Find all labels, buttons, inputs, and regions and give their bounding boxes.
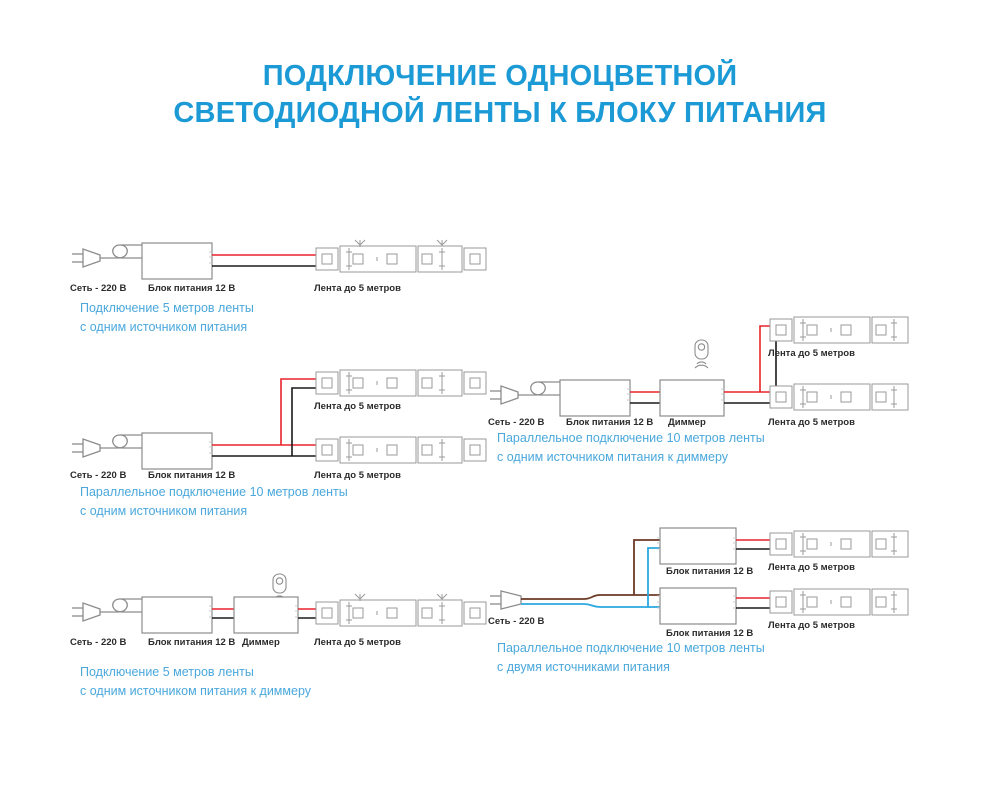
label-strip: Лента до 5 метров bbox=[314, 637, 401, 648]
caption-parallel-two-strips-one-psu-dimmer: Параллельное подключение 10 метров ленты… bbox=[497, 429, 765, 468]
power-supply-block-icon bbox=[142, 243, 212, 279]
label-dimmer: Диммер bbox=[242, 637, 280, 648]
power-supply-block-icon bbox=[142, 433, 212, 469]
caption-single-strip-one-psu-dimmer: Подключение 5 метров ленты с одним источ… bbox=[80, 663, 311, 702]
wire-live-brown bbox=[521, 540, 660, 599]
power-supply-block-icon bbox=[142, 597, 212, 633]
caption-line-1: Параллельное подключение 10 метров ленты bbox=[80, 483, 348, 502]
diagram-single-strip-one-psu: Сеть - 220 В Блок питания 12 В Лента до … bbox=[70, 235, 490, 295]
caption-line-1: Подключение 5 метров ленты bbox=[80, 663, 311, 682]
label-psu: Блок питания 12 В bbox=[148, 283, 235, 294]
diagram-parallel-two-strips-two-psu: Блок питания 12 В Лента до 5 метров Сеть… bbox=[488, 518, 920, 630]
power-supply-block-icon bbox=[560, 380, 630, 416]
caption-line-1: Параллельное подключение 10 метров ленты bbox=[497, 639, 765, 658]
label-strip: Лента до 5 метров bbox=[768, 417, 855, 428]
dimmer-block-icon bbox=[234, 597, 298, 633]
caption-parallel-two-strips-one-psu: Параллельное подключение 10 метров ленты… bbox=[80, 483, 348, 522]
led-strip-icon bbox=[770, 531, 908, 557]
power-plug-icon bbox=[72, 599, 142, 621]
label-psu: Блок питания 12 В bbox=[666, 628, 753, 639]
led-strip-icon bbox=[316, 594, 486, 626]
label-psu: Блок питания 12 В bbox=[148, 470, 235, 481]
power-plug-icon bbox=[490, 591, 521, 609]
power-supply-block-icon bbox=[660, 528, 736, 564]
caption-line-2: с одним источником питания к диммеру bbox=[497, 448, 765, 467]
label-mains: Сеть - 220 В bbox=[488, 417, 544, 428]
led-strip-icon bbox=[316, 240, 486, 272]
caption-line-1: Подключение 5 метров ленты bbox=[80, 299, 254, 318]
caption-single-strip-one-psu: Подключение 5 метров ленты с одним источ… bbox=[80, 299, 254, 338]
page-title: ПОДКЛЮЧЕНИЕ ОДНОЦВЕТНОЙ СВЕТОДИОДНОЙ ЛЕН… bbox=[0, 58, 1000, 132]
diagram-parallel-two-strips-one-psu-dimmer: Лента до 5 метров Сеть - 220 В Блок пита… bbox=[488, 312, 920, 417]
label-strip: Лента до 5 метров bbox=[768, 348, 855, 359]
power-plug-icon bbox=[72, 435, 142, 457]
dimmer-block-icon bbox=[660, 380, 724, 416]
power-supply-block-icon bbox=[660, 588, 736, 624]
led-strip-icon bbox=[770, 317, 908, 343]
label-mains: Сеть - 220 В bbox=[70, 637, 126, 648]
label-psu: Блок питания 12 В bbox=[566, 417, 653, 428]
label-mains: Сеть - 220 В bbox=[488, 616, 544, 627]
label-psu: Блок питания 12 В bbox=[666, 566, 753, 577]
label-strip: Лента до 5 метров bbox=[314, 283, 401, 294]
label-strip: Лента до 5 метров bbox=[768, 562, 855, 573]
wire-positive-red bbox=[724, 326, 770, 392]
label-strip: Лента до 5 метров bbox=[314, 401, 401, 412]
label-mains: Сеть - 220 В bbox=[70, 283, 126, 294]
caption-parallel-two-strips-two-psu: Параллельное подключение 10 метров ленты… bbox=[497, 639, 765, 678]
diagram-parallel-two-strips-one-psu: Лента до 5 метров Сеть - 220 В Блок пита… bbox=[70, 365, 490, 470]
diagram-single-strip-one-psu-dimmer: Сеть - 220 В Блок питания 12 В Диммер Ле… bbox=[70, 572, 490, 634]
caption-line-2: с одним источником питания bbox=[80, 502, 348, 521]
led-strip-icon bbox=[770, 589, 908, 615]
led-strip-icon bbox=[316, 370, 486, 396]
label-dimmer: Диммер bbox=[668, 417, 706, 428]
wire-positive-red bbox=[212, 379, 316, 445]
label-strip: Лента до 5 метров bbox=[768, 620, 855, 631]
led-strip-icon bbox=[770, 384, 908, 410]
remote-control-icon bbox=[695, 340, 708, 368]
caption-line-2: с одним источником питания bbox=[80, 318, 254, 337]
power-plug-icon bbox=[490, 382, 560, 404]
label-mains: Сеть - 220 В bbox=[70, 470, 126, 481]
caption-line-1: Параллельное подключение 10 метров ленты bbox=[497, 429, 765, 448]
caption-line-2: с одним источником питания к диммеру bbox=[80, 682, 311, 701]
wiring-diagram-page: ПОДКЛЮЧЕНИЕ ОДНОЦВЕТНОЙ СВЕТОДИОДНОЙ ЛЕН… bbox=[0, 0, 1000, 800]
label-strip: Лента до 5 метров bbox=[314, 470, 401, 481]
label-psu: Блок питания 12 В bbox=[148, 637, 235, 648]
caption-line-2: с двумя источниками питания bbox=[497, 658, 765, 677]
led-strip-icon bbox=[316, 437, 486, 463]
page-title-line2: СВЕТОДИОДНОЙ ЛЕНТЫ К БЛОКУ ПИТАНИЯ bbox=[0, 95, 1000, 132]
power-plug-icon bbox=[72, 245, 142, 267]
page-title-line1: ПОДКЛЮЧЕНИЕ ОДНОЦВЕТНОЙ bbox=[0, 58, 1000, 95]
